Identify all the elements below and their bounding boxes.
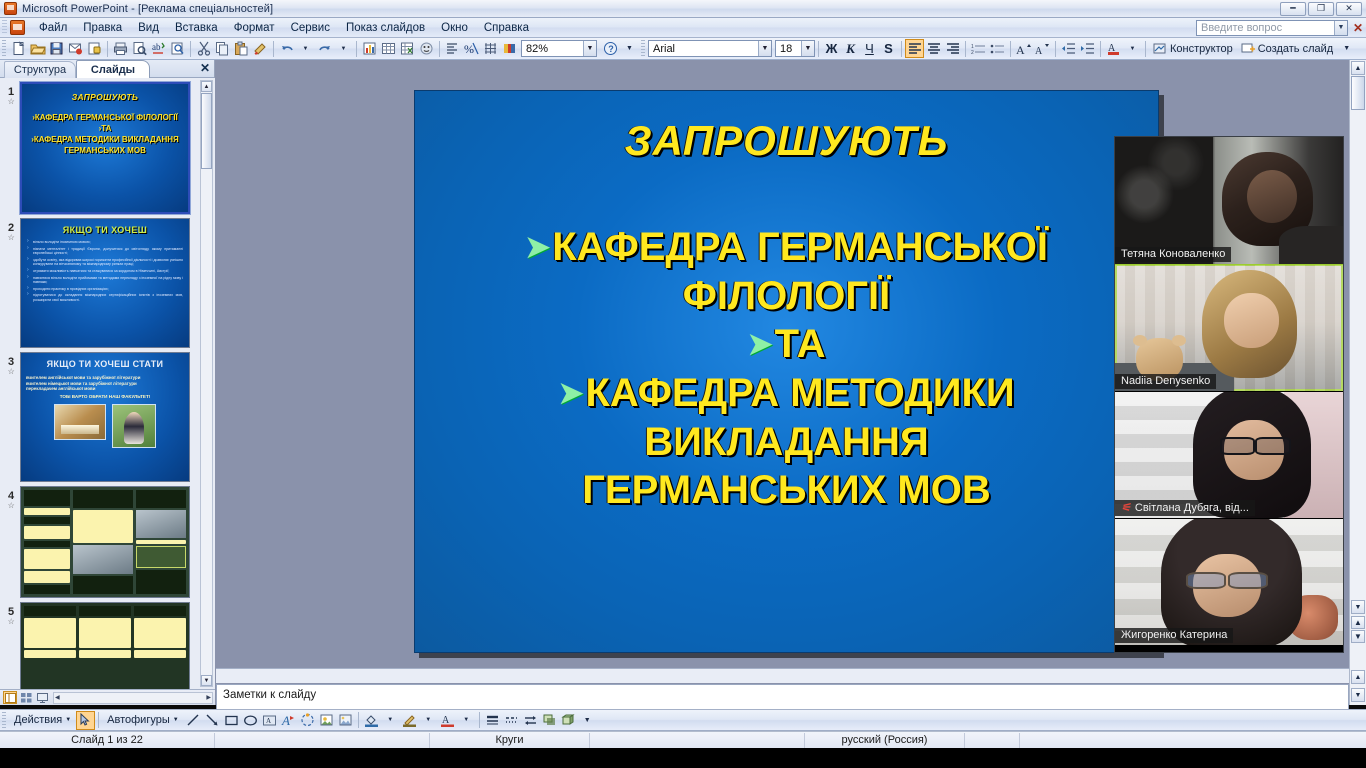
menu-item-file[interactable]: Файл bbox=[31, 20, 75, 36]
thumb1-line-2: ›ТА bbox=[22, 123, 188, 134]
chevron-down-icon[interactable]: ▼ bbox=[583, 41, 596, 56]
align-left-button[interactable] bbox=[905, 39, 924, 58]
thumbnails-scrollbar[interactable]: ▲ ▼ bbox=[200, 80, 213, 687]
video-tile-4[interactable]: Жигоренко Катерина bbox=[1115, 518, 1343, 645]
menu-item-tools[interactable]: Сервис bbox=[283, 20, 338, 36]
cut-icon[interactable] bbox=[194, 39, 213, 58]
permission-icon[interactable] bbox=[85, 39, 104, 58]
rectangle-icon[interactable] bbox=[222, 711, 241, 730]
notes-placeholder: Заметки к слайду bbox=[223, 689, 316, 701]
diagram-icon[interactable] bbox=[298, 711, 317, 730]
slide-thumbnails-list[interactable]: 1☆ ЗАПРОШУЮТЬ ›КАФЕДРА ГЕРМАНСЬКОЇ ФІЛОЛ… bbox=[0, 78, 215, 689]
menu-item-view[interactable]: Вид bbox=[130, 20, 167, 36]
slide-thumbnail-3[interactable]: 3☆ ЯКЩО ТИ ХОЧЕШ СТАТИ вчителем англійсь… bbox=[0, 348, 215, 482]
drawing-toolbar: Действия ▼ Автофигуры ▼ A A bbox=[0, 709, 1366, 731]
menu-bar: Файл Правка Вид Вставка Формат Сервис По… bbox=[0, 18, 1366, 38]
thumb1-line-1: ›КАФЕДРА ГЕРМАНСЬКОЇ ФІЛОЛОГІЇ bbox=[22, 112, 188, 123]
svg-text:A: A bbox=[1035, 46, 1043, 56]
menu-grip[interactable] bbox=[2, 20, 7, 35]
toolbar-options-icon[interactable]: ▼ bbox=[620, 39, 639, 58]
menu-item-window[interactable]: Окно bbox=[433, 20, 476, 36]
design-button[interactable]: Конструктор bbox=[1149, 39, 1237, 58]
underline-button[interactable]: Ч bbox=[860, 39, 879, 58]
participant-name-2: Nadiia Denysenko bbox=[1115, 374, 1216, 389]
slide-thumbnail-4[interactable]: 4☆ bbox=[0, 482, 215, 598]
numbered-list-button[interactable]: 12 bbox=[969, 39, 988, 58]
align-right-button[interactable] bbox=[943, 39, 962, 58]
design-label: Конструктор bbox=[1170, 43, 1233, 55]
font-color-dropdown-icon[interactable]: ▼ bbox=[1123, 39, 1142, 58]
svg-text:A: A bbox=[442, 715, 450, 726]
increase-indent-button[interactable] bbox=[1078, 39, 1097, 58]
slide-horizontal-scrollbar[interactable] bbox=[216, 668, 1349, 683]
close-document-button[interactable]: ✕ bbox=[1350, 21, 1366, 35]
thumb2-title: ЯКЩО ТИ ХОЧЕШ bbox=[27, 225, 183, 235]
oval-icon[interactable] bbox=[241, 711, 260, 730]
powerpoint-window: Microsoft PowerPoint - [Реклама спеціаль… bbox=[0, 0, 1366, 768]
slides-pane: Структура Слайды ✕ 1☆ ЗАПРОШУЮТЬ ›КАФЕДР… bbox=[0, 60, 215, 705]
fill-color-icon[interactable] bbox=[362, 711, 381, 730]
powerpoint-icon bbox=[4, 2, 17, 15]
actions-label: Действия bbox=[14, 714, 62, 726]
menu-item-insert[interactable]: Вставка bbox=[167, 20, 226, 36]
previous-slide-button[interactable]: ▲ bbox=[1351, 616, 1365, 629]
slide-sorter-view-button[interactable] bbox=[19, 691, 33, 704]
video-tile-1[interactable]: Тетяна Коноваленко bbox=[1115, 137, 1343, 264]
copy-icon[interactable] bbox=[213, 39, 232, 58]
thumb2-bullet-3: здобути освіту, яка відкриває широкі гор… bbox=[27, 258, 183, 267]
normal-view-button[interactable] bbox=[3, 691, 17, 704]
slide-vertical-scrollbar[interactable]: ▲ ▼ ▲ ▼ ▲ ▼ bbox=[1349, 60, 1366, 705]
align-center-button[interactable] bbox=[924, 39, 943, 58]
standard-toolbar: ab ▼ ▼ % bbox=[0, 38, 1366, 60]
status-bar: Слайд 1 из 22 Круги русский (Россия) bbox=[0, 731, 1366, 748]
ask-placeholder: Введите вопрос bbox=[1201, 22, 1282, 34]
slide-line-6: ГЕРМАНСЬКИХ МОВ bbox=[425, 466, 1148, 514]
thumb2-bullet-6: проходити практику в провідних організац… bbox=[27, 287, 183, 292]
new-slide-icon bbox=[1241, 42, 1255, 55]
scrollbar-thumb[interactable] bbox=[201, 93, 212, 169]
shadow-label: S bbox=[884, 41, 893, 56]
view-buttons-bar: ◀▶ bbox=[0, 689, 215, 705]
expand-all-icon[interactable] bbox=[443, 39, 462, 58]
research-icon[interactable] bbox=[168, 39, 187, 58]
slide-number-4: 4☆ bbox=[2, 486, 20, 511]
3d-style-icon[interactable] bbox=[559, 711, 578, 730]
spellcheck-indicator bbox=[965, 733, 1020, 748]
format-painter-icon[interactable] bbox=[251, 39, 270, 58]
increase-font-size-button[interactable]: A bbox=[1014, 39, 1033, 58]
new-slide-button[interactable]: Создать слайд bbox=[1237, 39, 1337, 58]
slide-show-button[interactable] bbox=[35, 691, 49, 704]
notes-scroll-up-icon[interactable]: ▲ bbox=[1351, 670, 1365, 684]
autoshapes-label: Автофигуры bbox=[107, 714, 170, 726]
slide-body-placeholder[interactable]: ➤КАФЕДРА ГЕРМАНСЬКОЇ ФІЛОЛОГІЇ ➤ТА ➤КАФЕ… bbox=[425, 223, 1148, 514]
shadow-style-icon[interactable] bbox=[540, 711, 559, 730]
redo-dropdown-icon[interactable]: ▼ bbox=[334, 39, 353, 58]
participant-shoulder bbox=[1279, 226, 1343, 264]
slide-counter: Слайд 1 из 22 bbox=[0, 733, 215, 748]
toolbar-grip[interactable] bbox=[2, 40, 6, 57]
participant-name-1: Тетяна Коноваленко bbox=[1115, 247, 1231, 262]
slide-thumbnail-image-5[interactable] bbox=[20, 602, 190, 689]
menu-item-edit[interactable]: Правка bbox=[75, 20, 130, 36]
italic-button[interactable]: К bbox=[841, 39, 860, 58]
participant-name-3: ⚟ Світлана Дубяга, від... bbox=[1115, 500, 1255, 516]
slide-line-1: ➤КАФЕДРА ГЕРМАНСЬКОЇ bbox=[425, 223, 1148, 272]
thumb3-images bbox=[26, 404, 184, 448]
bold-button[interactable]: Ж bbox=[822, 39, 841, 58]
chevron-down-icon[interactable]: ▼ bbox=[801, 41, 814, 56]
thumb2-bullet-2: пізнати менталітет і традиції Європи, до… bbox=[27, 247, 183, 256]
undo-icon[interactable] bbox=[277, 39, 296, 58]
drawing-toolbar-options-icon[interactable]: ▼ bbox=[578, 711, 597, 730]
slide-thumbnail-2[interactable]: 2☆ ЯКЩО ТИ ХОЧЕШ вільно володіти іноземн… bbox=[0, 214, 215, 348]
font-size-value: 18 bbox=[780, 43, 792, 55]
undo-dropdown-icon[interactable]: ▼ bbox=[296, 39, 315, 58]
decrease-indent-button[interactable] bbox=[1059, 39, 1078, 58]
close-button[interactable]: ✕ bbox=[1336, 2, 1362, 16]
thumb3-callout: ТОБІ ВАРТО ОБРАТИ НАШ ФАКУЛЬТЕТ! bbox=[26, 394, 184, 399]
thumb2-bullet-7: підготуватися до складання міжнародних с… bbox=[27, 293, 183, 302]
svg-text:A: A bbox=[281, 713, 290, 727]
close-pane-button[interactable]: ✕ bbox=[200, 61, 210, 76]
autoshapes-menu-button[interactable]: Автофигуры ▼ bbox=[102, 711, 184, 730]
teacher-image bbox=[112, 404, 156, 448]
font-name-value: Arial bbox=[653, 43, 675, 55]
text-shadow-button[interactable]: S bbox=[879, 39, 898, 58]
document-icon bbox=[10, 20, 25, 35]
svg-text:ab: ab bbox=[152, 42, 161, 52]
next-slide-button[interactable]: ▼ bbox=[1351, 630, 1365, 643]
slide-line-5: ВИКЛАДАННЯ bbox=[425, 418, 1148, 466]
formatting-toolbar-options-icon[interactable]: ▼ bbox=[1337, 39, 1356, 58]
print-preview-icon[interactable] bbox=[130, 39, 149, 58]
font-color-icon[interactable]: A bbox=[438, 711, 457, 730]
text-box-icon[interactable]: A bbox=[260, 711, 279, 730]
svg-text:?: ? bbox=[608, 44, 614, 54]
slide-number-5: 5☆ bbox=[2, 602, 20, 627]
video-conference-panel[interactable]: Тетяна Коноваленко Nadiia Denysenko ⚟ Св… bbox=[1114, 136, 1344, 653]
menu-item-slideshow[interactable]: Показ слайдов bbox=[338, 20, 433, 36]
language-indicator: русский (Россия) bbox=[805, 733, 965, 748]
thumbnails-hscrollbar[interactable]: ◀▶ bbox=[53, 692, 213, 704]
svg-text:2: 2 bbox=[971, 50, 974, 55]
line-color-icon[interactable] bbox=[400, 711, 419, 730]
status-empty-2 bbox=[590, 733, 805, 748]
thumb3-bullet-3: перекладачем англійської мови bbox=[26, 386, 184, 392]
tab-slides[interactable]: Слайды bbox=[76, 60, 150, 78]
title-bar: Microsoft PowerPoint - [Реклама спеціаль… bbox=[0, 0, 1366, 18]
zoom-combobox[interactable]: 82% ▼ bbox=[521, 40, 597, 57]
bullet-icon: ➤ bbox=[525, 231, 550, 264]
video-tile-2[interactable]: Nadiia Denysenko bbox=[1115, 264, 1343, 391]
dash-style-icon[interactable] bbox=[502, 711, 521, 730]
thumb1-title: ЗАПРОШУЮТЬ bbox=[72, 92, 139, 102]
insert-clipart-icon[interactable] bbox=[417, 39, 436, 58]
slide-line-4: ➤КАФЕДРА МЕТОДИКИ bbox=[425, 369, 1148, 418]
slide-number-3: 3☆ bbox=[2, 352, 20, 377]
glasses-icon bbox=[1220, 437, 1291, 451]
slide-thumbnail-image-4[interactable] bbox=[20, 486, 190, 598]
design-template-name: Круги bbox=[430, 733, 590, 748]
underline-label: Ч bbox=[865, 41, 874, 56]
slide-thumbnail-image-1[interactable]: ЗАПРОШУЮТЬ ›КАФЕДРА ГЕРМАНСЬКОЇ ФІЛОЛОГІ… bbox=[20, 82, 190, 214]
scroll-down-icon[interactable]: ▼ bbox=[1351, 600, 1365, 614]
bullet-icon: ➤ bbox=[558, 377, 583, 410]
font-name-combobox[interactable]: Arial ▼ bbox=[648, 40, 772, 57]
open-icon[interactable] bbox=[28, 39, 47, 58]
actions-menu-button[interactable]: Действия ▼ bbox=[9, 711, 76, 730]
arrow-icon[interactable] bbox=[203, 711, 222, 730]
slide-thumbnail-image-2[interactable]: ЯКЩО ТИ ХОЧЕШ вільно володіти іноземною … bbox=[20, 218, 190, 348]
insert-clip-art-icon[interactable] bbox=[317, 711, 336, 730]
bold-label: Ж bbox=[826, 41, 838, 56]
print-icon[interactable] bbox=[111, 39, 130, 58]
svg-text:A: A bbox=[266, 717, 271, 725]
svg-text:A: A bbox=[1016, 43, 1025, 56]
participant-name-4: Жигоренко Катерина bbox=[1115, 628, 1233, 643]
slide-thumbnail-5[interactable]: 5☆ bbox=[0, 598, 215, 689]
formatting-toolbar-grip[interactable] bbox=[641, 40, 645, 57]
menu-item-format[interactable]: Формат bbox=[226, 20, 283, 36]
design-icon bbox=[1153, 42, 1167, 55]
svg-text:%: % bbox=[464, 42, 474, 56]
new-icon[interactable] bbox=[9, 39, 28, 58]
select-objects-icon[interactable] bbox=[76, 711, 95, 730]
scrollbar-thumb[interactable] bbox=[1351, 76, 1365, 110]
insert-excel-icon[interactable] bbox=[398, 39, 417, 58]
italic-label: К bbox=[846, 41, 855, 57]
slide-title[interactable]: ЗАПРОШУЮТЬ bbox=[415, 117, 1158, 165]
new-slide-label: Создать слайд bbox=[1258, 43, 1333, 55]
thumb2-bullet-1: вільно володіти іноземною мовою; bbox=[27, 240, 183, 245]
help-icon[interactable]: ? bbox=[601, 39, 620, 58]
pane-tabs: Структура Слайды ✕ bbox=[0, 60, 214, 78]
chevron-down-icon[interactable]: ▼ bbox=[758, 41, 771, 56]
drawing-toolbar-grip[interactable] bbox=[2, 712, 6, 729]
slide-number-1: 1☆ bbox=[2, 82, 20, 107]
thumb2-bullet-5: навчитися вільно володіти прийомами та м… bbox=[27, 276, 183, 285]
arrow-style-icon[interactable] bbox=[521, 711, 540, 730]
insert-picture-icon[interactable] bbox=[336, 711, 355, 730]
status-empty-3 bbox=[1020, 733, 1366, 748]
restore-button[interactable]: ❐ bbox=[1308, 2, 1334, 16]
font-size-combobox[interactable]: 18 ▼ bbox=[775, 40, 815, 57]
line-icon[interactable] bbox=[184, 711, 203, 730]
insert-table-icon[interactable] bbox=[379, 39, 398, 58]
background-curtain bbox=[1115, 137, 1213, 264]
notes-scroll-down-icon[interactable]: ▼ bbox=[1351, 688, 1365, 702]
books-image bbox=[54, 404, 106, 440]
poster-layout bbox=[21, 487, 189, 597]
thumb1-line-3: ›КАФЕДРА МЕТОДИКИ ВИКЛАДАННЯ ГЕРМАНСЬКИХ… bbox=[22, 134, 188, 156]
email-icon[interactable] bbox=[66, 39, 85, 58]
spelling-icon[interactable]: ab bbox=[149, 39, 168, 58]
slide-line-2: ФІЛОЛОГІЇ bbox=[425, 272, 1148, 320]
slide-canvas[interactable]: ЗАПРОШУЮТЬ ➤КАФЕДРА ГЕРМАНСЬКОЇ ФІЛОЛОГІ… bbox=[414, 90, 1159, 653]
slide-line-3: ➤ТА bbox=[425, 320, 1148, 369]
slide-number-2: 2☆ bbox=[2, 218, 20, 243]
slide-thumbnail-1[interactable]: 1☆ ЗАПРОШУЮТЬ ›КАФЕДРА ГЕРМАНСЬКОЇ ФІЛОЛ… bbox=[0, 78, 215, 214]
minimize-button[interactable]: ━ bbox=[1280, 2, 1306, 16]
bullet-icon: ➤ bbox=[748, 328, 773, 361]
menu-item-help[interactable]: Справка bbox=[476, 20, 537, 36]
zoom-value: 82% bbox=[526, 43, 548, 55]
scroll-down-icon[interactable]: ▼ bbox=[201, 675, 212, 686]
bulleted-list-button[interactable] bbox=[988, 39, 1007, 58]
font-color-dropdown-icon[interactable]: ▼ bbox=[457, 711, 476, 730]
redo-icon[interactable] bbox=[315, 39, 334, 58]
line-style-icon[interactable] bbox=[483, 711, 502, 730]
font-color-button[interactable]: A bbox=[1104, 39, 1123, 58]
fill-color-dropdown-icon[interactable]: ▼ bbox=[381, 711, 400, 730]
scroll-up-icon[interactable]: ▲ bbox=[201, 81, 212, 92]
save-icon[interactable] bbox=[47, 39, 66, 58]
poster-layout-2 bbox=[21, 603, 189, 689]
window-title: Microsoft PowerPoint - [Реклама спеціаль… bbox=[22, 3, 273, 15]
paste-icon[interactable] bbox=[232, 39, 251, 58]
wordart-icon[interactable]: A bbox=[279, 711, 298, 730]
insert-chart-icon[interactable] bbox=[360, 39, 379, 58]
status-empty-1 bbox=[215, 733, 430, 748]
video-tile-3[interactable]: ⚟ Світлана Дубяга, від... bbox=[1115, 391, 1343, 518]
color-grayscale-icon[interactable] bbox=[500, 39, 519, 58]
show-formatting-icon[interactable]: % bbox=[462, 39, 481, 58]
glasses-icon bbox=[1186, 572, 1268, 585]
decrease-font-size-button[interactable]: A bbox=[1033, 39, 1052, 58]
thumb2-bullet-4: отримати можливість навчатися та стажува… bbox=[27, 269, 183, 274]
muted-microphone-icon: ⚟ bbox=[1121, 501, 1131, 514]
participant-face bbox=[1224, 293, 1279, 348]
chevron-down-icon[interactable]: ▼ bbox=[1334, 21, 1347, 35]
thumb3-title: ЯКЩО ТИ ХОЧЕШ СТАТИ bbox=[26, 359, 184, 369]
tab-outline[interactable]: Структура bbox=[4, 61, 76, 78]
line-color-dropdown-icon[interactable]: ▼ bbox=[419, 711, 438, 730]
show-grid-icon[interactable] bbox=[481, 39, 500, 58]
ask-a-question-input[interactable]: Введите вопрос ▼ bbox=[1196, 20, 1348, 36]
slide-thumbnail-image-3[interactable]: ЯКЩО ТИ ХОЧЕШ СТАТИ вчителем англійської… bbox=[20, 352, 190, 482]
scroll-up-icon[interactable]: ▲ bbox=[1351, 61, 1365, 75]
screen-letterbox bbox=[0, 748, 1366, 768]
